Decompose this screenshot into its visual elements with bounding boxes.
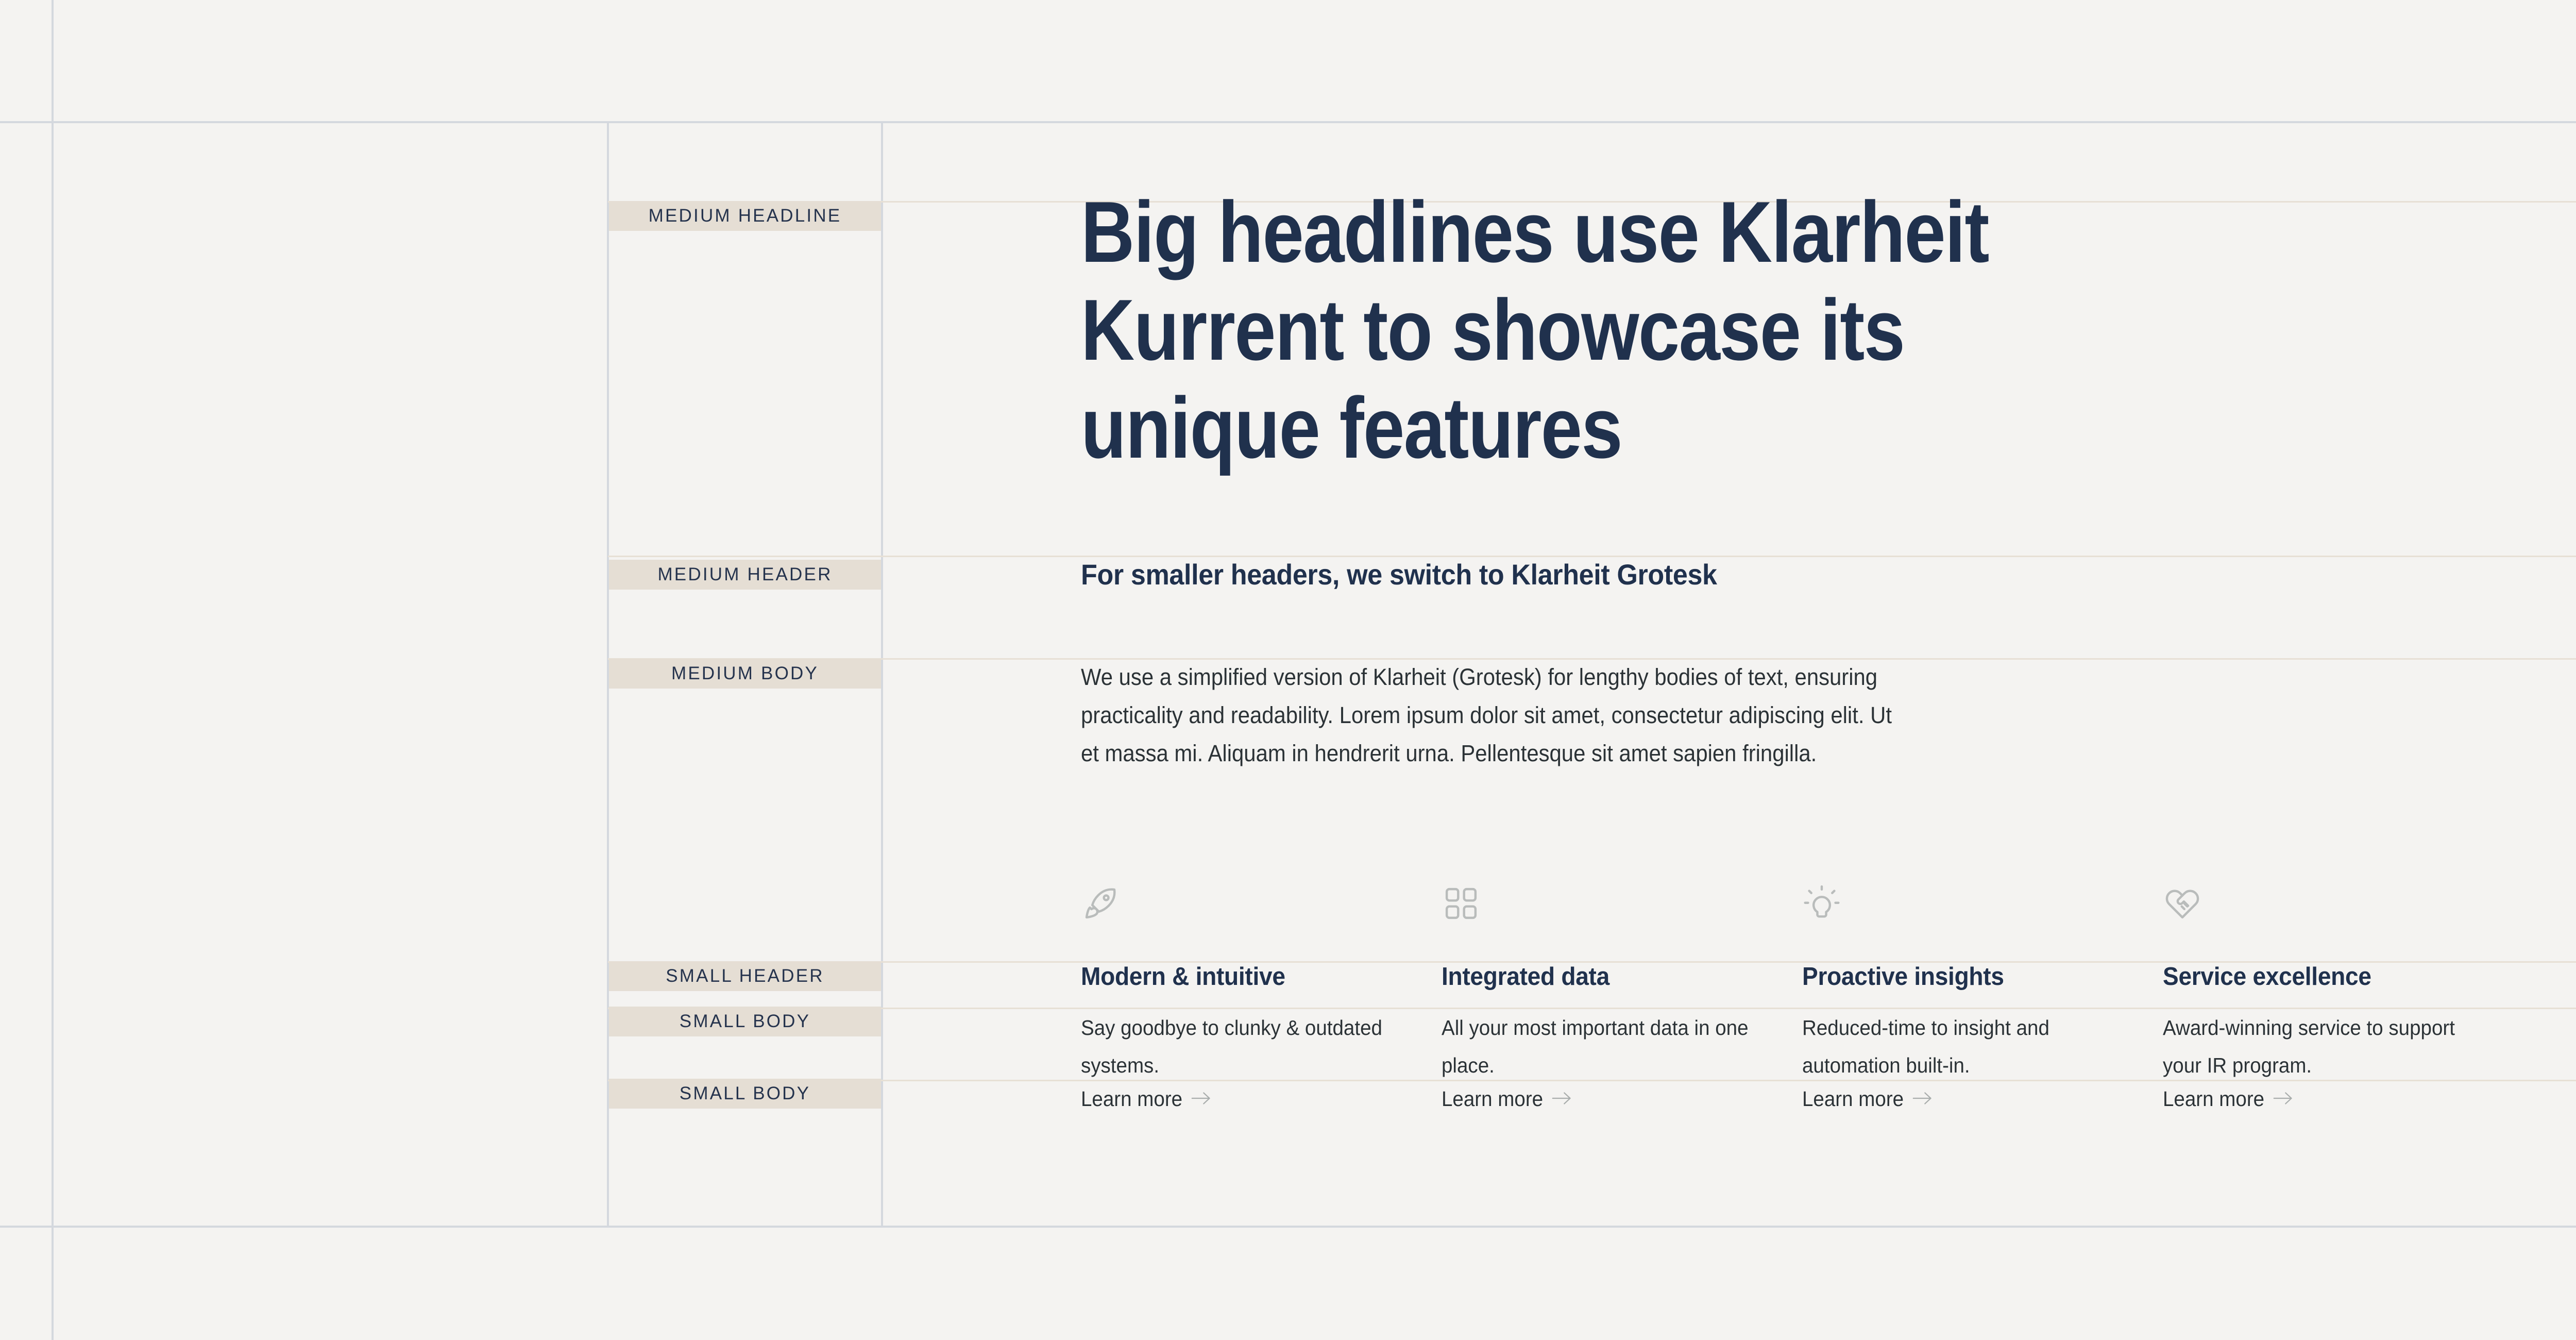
lightbulb-icon — [1802, 884, 2163, 946]
arrow-right-icon — [1912, 1086, 1933, 1112]
feature-title: Proactive insights — [1802, 962, 2004, 991]
learn-more-link[interactable]: Learn more — [1442, 1086, 1572, 1112]
feature-title: Service excellence — [2163, 962, 2371, 991]
feature-card-modern-intuitive: Modern & intuitive Say goodbye to clunky… — [1081, 884, 1442, 946]
arrow-right-icon — [1191, 1086, 1211, 1112]
label-tag-medium-body: MEDIUM BODY — [609, 659, 881, 689]
grid-vline-label-right — [881, 121, 883, 1226]
feature-description: Reduced-time to insight and automation b… — [1802, 1009, 2122, 1084]
specimen-headline: Big headlines use Klarheit Kurrent to sh… — [1081, 183, 2144, 477]
feature-columns: Modern & intuitive Say goodbye to clunky… — [1081, 884, 2576, 946]
rocket-icon — [1081, 884, 1442, 946]
grid-hline-bottom — [0, 1226, 2576, 1228]
label-tag-medium-headline-text: MEDIUM HEADLINE — [649, 206, 842, 226]
label-tag-medium-header: MEDIUM HEADER — [609, 560, 881, 590]
learn-more-label: Learn more — [1802, 1086, 1904, 1112]
learn-more-label: Learn more — [1081, 1086, 1182, 1112]
feature-card-service-excellence: Service excellence Award-winning service… — [2163, 884, 2523, 946]
arrow-right-icon — [2273, 1086, 2293, 1112]
feature-description: Award-winning service to support your IR… — [2163, 1009, 2482, 1084]
learn-more-label: Learn more — [1442, 1086, 1543, 1112]
arrow-right-icon — [1552, 1086, 1572, 1112]
specimen-medium-header: For smaller headers, we switch to Klarhe… — [1081, 556, 1752, 594]
label-tag-medium-body-text: MEDIUM BODY — [671, 663, 819, 684]
label-tag-small-body-1-text: SMALL BODY — [680, 1011, 810, 1032]
learn-more-link[interactable]: Learn more — [1802, 1086, 1933, 1112]
feature-card-proactive-insights: Proactive insights Reduced-time to insig… — [1802, 884, 2163, 946]
heart-handshake-icon — [2163, 884, 2523, 946]
learn-more-link[interactable]: Learn more — [2163, 1086, 2293, 1112]
learn-more-label: Learn more — [2163, 1086, 2264, 1112]
grid-hline-top — [0, 121, 2576, 123]
grid-squares-icon — [1442, 884, 1802, 946]
feature-description: Say goodbye to clunky & outdated systems… — [1081, 1009, 1400, 1084]
typography-specimen-page: MEDIUM HEADLINE MEDIUM HEADER MEDIUM BOD… — [0, 0, 2576, 1340]
specimen-medium-body: We use a simplified version of Klarheit … — [1081, 658, 1914, 773]
feature-title: Integrated data — [1442, 962, 1609, 991]
feature-card-integrated-data: Integrated data All your most important … — [1442, 884, 1802, 946]
feature-description: All your most important data in one plac… — [1442, 1009, 1761, 1084]
label-tag-small-header-text: SMALL HEADER — [666, 966, 824, 986]
feature-title: Modern & intuitive — [1081, 962, 1285, 991]
label-tag-small-body-1: SMALL BODY — [609, 1007, 881, 1036]
label-tag-small-body-2-text: SMALL BODY — [680, 1083, 810, 1104]
label-tag-medium-header-text: MEDIUM HEADER — [657, 564, 832, 585]
label-tag-small-body-2: SMALL BODY — [609, 1079, 881, 1109]
learn-more-link[interactable]: Learn more — [1081, 1086, 1211, 1112]
grid-vline-left — [52, 0, 54, 1340]
label-tag-small-header: SMALL HEADER — [609, 961, 881, 991]
label-tag-medium-headline: MEDIUM HEADLINE — [609, 201, 881, 231]
